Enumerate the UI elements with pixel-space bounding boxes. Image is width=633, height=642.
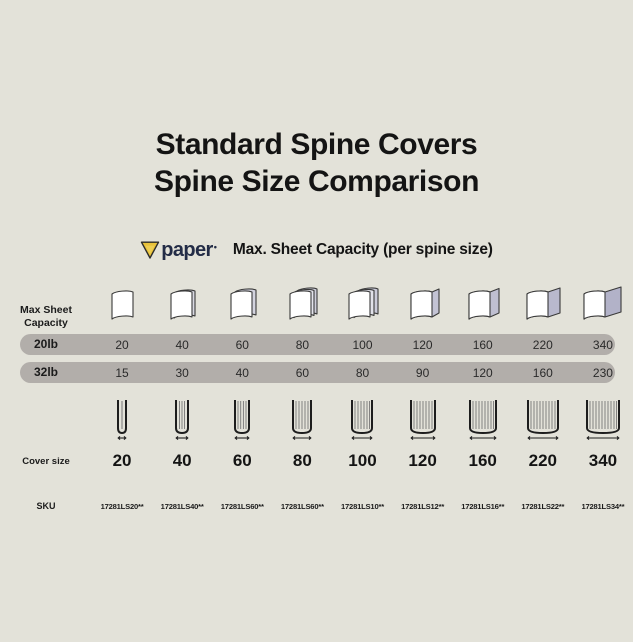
capacity-cell: 230	[573, 362, 633, 383]
paper-stack-icon	[519, 282, 567, 330]
capacity-cell: 100	[332, 334, 392, 355]
sku-cell: 17281LS40**	[152, 496, 212, 516]
paper-stack-cell	[393, 278, 453, 330]
sku-cells: 17281LS20** 17281LS40** 17281LS60** 1728…	[92, 496, 633, 516]
subtitle: Max. Sheet Capacity (per spine size)	[233, 241, 493, 259]
spine-cell	[453, 396, 513, 444]
brand-subtitle-row: paper • Max. Sheet Capacity (per spine s…	[0, 240, 633, 260]
capacity-cell: 40	[152, 334, 212, 355]
title-line-1: Standard Spine Covers	[0, 126, 633, 163]
cover-size-label: Cover size	[0, 455, 92, 468]
sku-cell: 17281LS16**	[453, 496, 513, 516]
capacity-row-32lb: 32lb 15 30 40 60 80 90 120 160 230	[0, 362, 633, 383]
capacity-cell: 30	[152, 362, 212, 383]
sku-cell: 17281LS60**	[272, 496, 332, 516]
paper-stack-icon	[401, 282, 445, 330]
paper-stack-icon-row: Max Sheet Capacity	[0, 278, 633, 330]
spine-cell	[92, 396, 152, 444]
spine-cell	[272, 396, 332, 444]
capacity-cell: 20	[92, 334, 152, 355]
capacity-cell: 60	[212, 334, 272, 355]
paper-stack-cell	[152, 278, 212, 330]
spine-icon-cells	[92, 396, 633, 444]
logo-wordmark: paper	[161, 240, 212, 260]
capacity-cells-32lb: 15 30 40 60 80 90 120 160 230	[92, 362, 633, 383]
spine-cell	[332, 396, 392, 444]
capacity-cell: 80	[332, 362, 392, 383]
sku-cell: 17281LS60**	[212, 496, 272, 516]
capacity-cell: 120	[393, 334, 453, 355]
capacity-cell: 40	[212, 362, 272, 383]
paper-stack-cell	[573, 278, 633, 330]
cover-size-cell: 20	[92, 448, 152, 474]
paper-stack-cell	[212, 278, 272, 330]
spine-icon-row	[0, 396, 633, 444]
capacity-cell: 160	[513, 362, 573, 383]
row-label-20lb: 20lb	[0, 338, 92, 351]
capacity-cell: 80	[272, 334, 332, 355]
capacity-cell: 120	[453, 362, 513, 383]
cover-size-cell: 160	[453, 448, 513, 474]
capacity-row-20lb: 20lb 20 40 60 80 100 120 160 220 340	[0, 334, 633, 355]
spine-cross-section-icon	[344, 396, 380, 444]
sku-cell: 17281LS10**	[332, 496, 392, 516]
spine-cell	[573, 396, 633, 444]
paper-stack-icon	[460, 282, 506, 330]
sku-row: SKU 17281LS20** 17281LS40** 17281LS60** …	[0, 496, 633, 516]
capacity-cell: 160	[453, 334, 513, 355]
sku-cell: 17281LS20**	[92, 496, 152, 516]
cover-size-row: Cover size 20 40 60 80 100 120 160 220 3…	[0, 448, 633, 474]
spine-cross-section-icon	[226, 396, 258, 444]
paper-stack-cell	[272, 278, 332, 330]
spine-cross-section-icon	[581, 396, 625, 444]
spine-cell	[513, 396, 573, 444]
cover-size-cell: 340	[573, 448, 633, 474]
paper-stack-icon	[282, 282, 322, 330]
spine-cell	[152, 396, 212, 444]
spine-cross-section-icon	[404, 396, 442, 444]
sku-label: SKU	[0, 500, 92, 513]
capacity-cell: 90	[393, 362, 453, 383]
capacity-cell: 340	[573, 334, 633, 355]
cover-size-cell: 60	[212, 448, 272, 474]
max-sheet-capacity-line2: Capacity	[0, 317, 92, 330]
row-label-32lb: 32lb	[0, 366, 92, 379]
sku-cell: 17281LS22**	[513, 496, 573, 516]
sku-cell: 17281LS34**	[573, 496, 633, 516]
paper-stack-icon	[102, 282, 142, 330]
spine-cross-section-icon	[107, 396, 137, 444]
spine-cell	[393, 396, 453, 444]
paper-stack-icon	[341, 282, 383, 330]
paper-stack-cell	[332, 278, 392, 330]
paper-stack-cell	[513, 278, 573, 330]
cover-size-cell: 80	[272, 448, 332, 474]
max-sheet-capacity-label: Max Sheet Capacity	[0, 304, 92, 330]
cover-size-cell: 100	[332, 448, 392, 474]
spine-cell	[212, 396, 272, 444]
logo-v-icon	[140, 240, 160, 260]
paper-stack-cell	[92, 278, 152, 330]
spine-comparison-table: Max Sheet Capacity	[0, 278, 633, 516]
max-sheet-capacity-line1: Max Sheet	[0, 304, 92, 317]
paper-stack-cell	[453, 278, 513, 330]
spine-cross-section-icon	[285, 396, 319, 444]
paper-stack-cells	[92, 278, 633, 330]
sku-cell: 17281LS12**	[393, 496, 453, 516]
paper-stack-icon	[577, 282, 629, 330]
cover-size-cell: 120	[393, 448, 453, 474]
paper-stack-icon	[222, 282, 262, 330]
capacity-cell: 15	[92, 362, 152, 383]
logo-trademark: •	[214, 242, 217, 252]
capacity-cells-20lb: 20 40 60 80 100 120 160 220 340	[92, 334, 633, 355]
cover-size-cell: 220	[513, 448, 573, 474]
title-line-2: Spine Size Comparison	[0, 163, 633, 200]
spine-cross-section-icon	[463, 396, 503, 444]
page-title: Standard Spine Covers Spine Size Compari…	[0, 126, 633, 200]
cover-size-cell: 40	[152, 448, 212, 474]
paper-stack-icon	[162, 282, 202, 330]
capacity-cell: 220	[513, 334, 573, 355]
capacity-cell: 60	[272, 362, 332, 383]
spine-cross-section-icon	[167, 396, 197, 444]
cover-size-cells: 20 40 60 80 100 120 160 220 340	[92, 448, 633, 474]
spine-cross-section-icon	[522, 396, 564, 444]
vpaper-logo: paper •	[140, 240, 217, 260]
